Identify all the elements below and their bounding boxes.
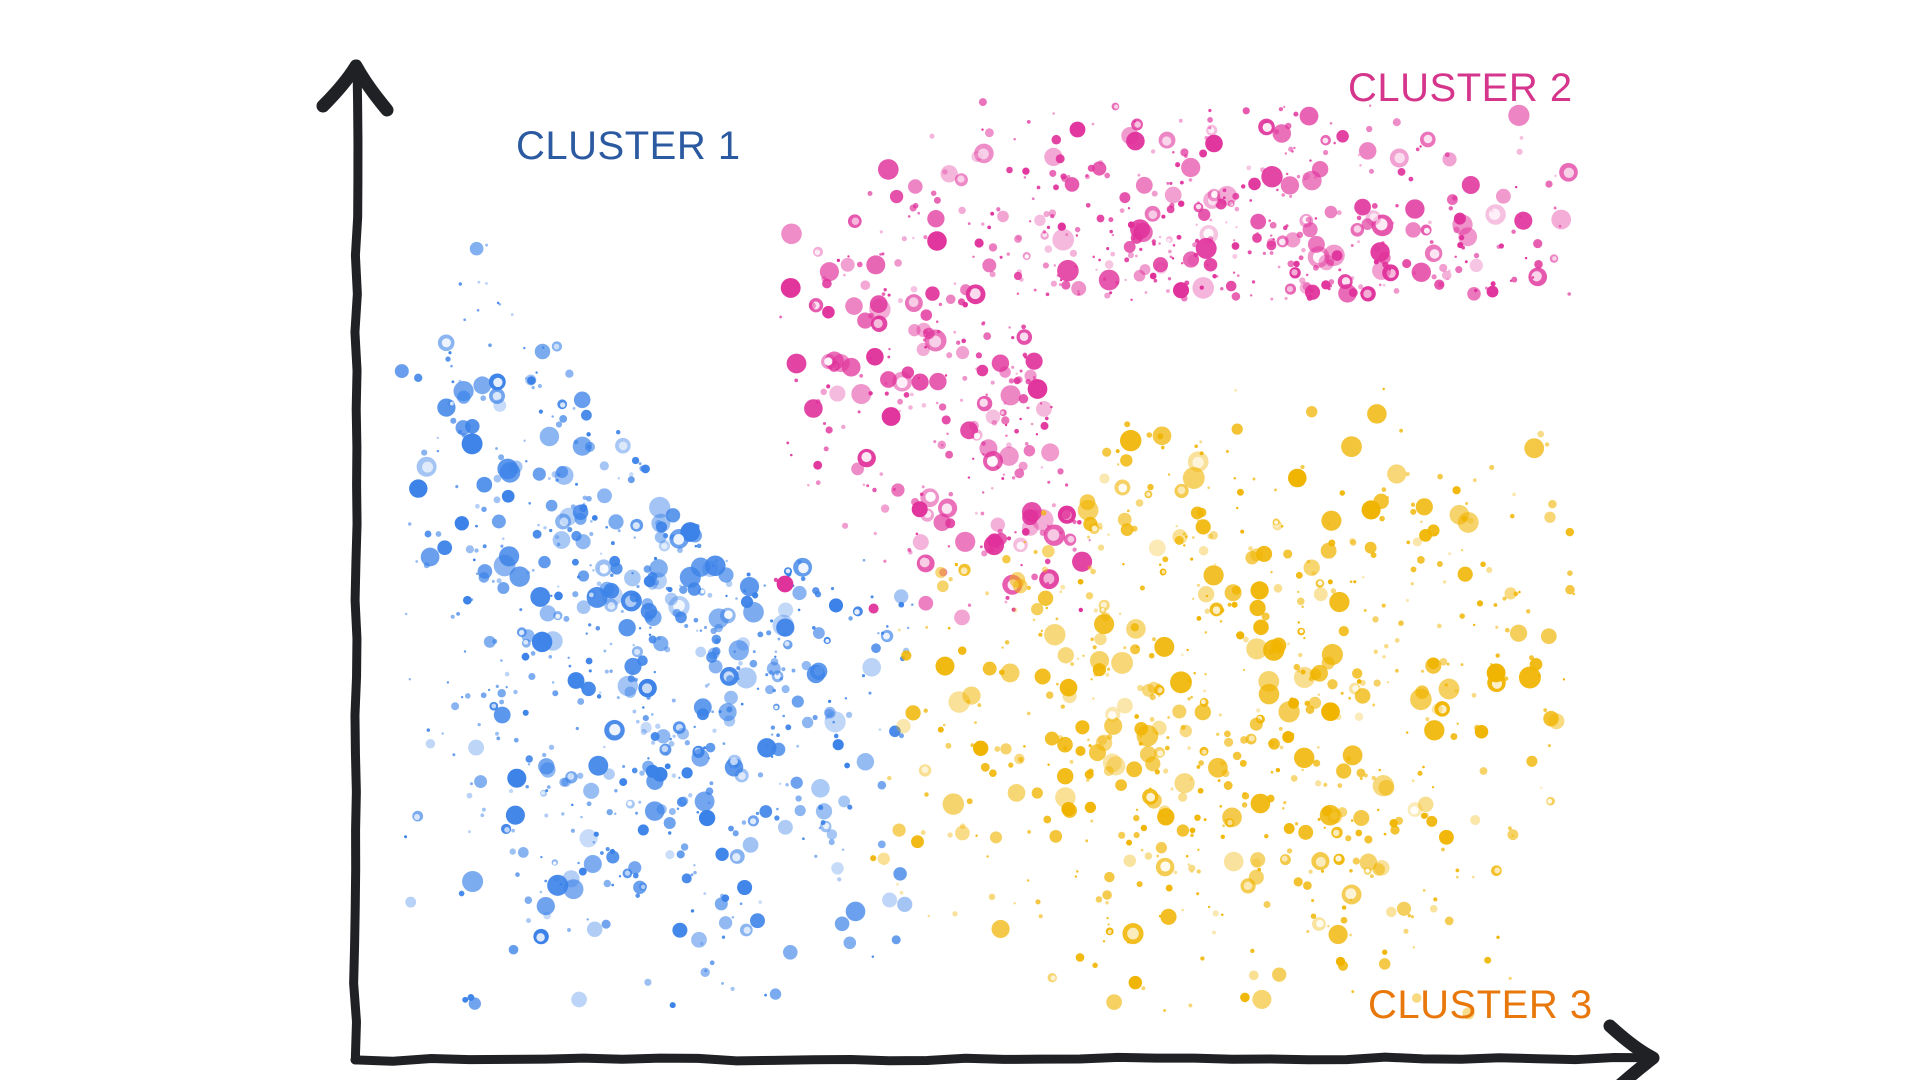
scatter-point	[526, 918, 531, 923]
scatter-point-speck	[470, 782, 473, 785]
scatter-point-highlight	[619, 442, 628, 451]
scatter-point-speck	[1043, 211, 1049, 217]
scatter-point	[1136, 177, 1153, 194]
scatter-point	[621, 610, 624, 613]
scatter-point	[905, 705, 920, 720]
scatter-point	[1242, 792, 1249, 799]
scatter-point	[1088, 539, 1090, 541]
scatter-point	[776, 672, 779, 675]
scatter-point	[614, 813, 617, 816]
scatter-point	[1352, 668, 1362, 678]
scatter-point-speck	[921, 830, 926, 835]
scatter-point	[878, 841, 886, 849]
scatter-point-highlight	[491, 704, 496, 709]
scatter-point-speck	[756, 812, 759, 815]
scatter-point	[456, 612, 460, 616]
scatter-point-highlight	[774, 706, 778, 710]
scatter-point	[708, 802, 711, 805]
scatter-point	[1370, 874, 1374, 878]
scatter-point	[1317, 746, 1320, 749]
scatter-point	[1154, 637, 1174, 657]
scatter-point-speck	[1529, 655, 1534, 660]
scatter-point	[1039, 914, 1043, 918]
scatter-point-highlight	[732, 853, 740, 861]
scatter-point-highlight	[1017, 542, 1025, 550]
scatter-point	[992, 920, 1010, 938]
scatter-point	[1306, 406, 1317, 417]
scatter-point	[1223, 188, 1227, 192]
scatter-point	[1281, 176, 1299, 194]
scatter-point	[605, 526, 608, 529]
scatter-point	[629, 472, 634, 477]
scatter-point	[912, 501, 928, 517]
scatter-point-speck	[492, 580, 495, 583]
scatter-point	[1198, 209, 1210, 221]
scatter-point	[1226, 450, 1229, 453]
scatter-point	[474, 548, 478, 552]
scatter-point	[1406, 540, 1410, 544]
scatter-point	[928, 915, 930, 917]
scatter-point	[1186, 649, 1188, 651]
scatter-point	[1526, 756, 1537, 767]
scatter-point	[547, 785, 551, 789]
scatter-point	[492, 515, 506, 529]
scatter-point	[1511, 229, 1515, 233]
scatter-point	[1168, 277, 1171, 280]
scatter-point-speck	[1449, 206, 1453, 210]
scatter-point	[1052, 112, 1054, 114]
scatter-point	[695, 791, 715, 811]
scatter-point-highlight	[627, 801, 632, 806]
scatter-point	[700, 630, 702, 632]
scatter-point	[571, 829, 575, 833]
scatter-point	[1170, 671, 1192, 693]
scatter-point	[1394, 288, 1400, 294]
scatter-point	[556, 421, 562, 427]
scatter-point	[997, 466, 1000, 469]
scatter-point	[829, 385, 845, 401]
scatter-point	[858, 410, 861, 413]
scatter-point-speck	[1313, 265, 1319, 271]
scatter-point	[1250, 852, 1265, 867]
scatter-point	[1105, 673, 1109, 677]
scatter-point	[1172, 151, 1175, 154]
scatter-point	[509, 945, 519, 955]
scatter-point-highlight	[1178, 486, 1186, 494]
scatter-point	[945, 743, 951, 749]
scatter-point	[451, 615, 455, 619]
scatter-point	[655, 724, 660, 729]
scatter-point	[580, 816, 582, 818]
scatter-point	[1149, 540, 1166, 557]
scatter-point	[673, 609, 682, 618]
scatter-point	[1359, 164, 1361, 166]
scatter-point	[1120, 454, 1132, 466]
scatter-point	[1187, 697, 1190, 700]
scatter-point	[1096, 896, 1103, 903]
scatter-point-highlight	[599, 564, 608, 573]
scatter-point	[1117, 698, 1133, 714]
scatter-point	[1031, 574, 1038, 581]
scatter-point	[975, 367, 978, 370]
scatter-point	[1287, 642, 1290, 645]
scatter-point	[925, 286, 939, 300]
scatter-point	[1166, 736, 1169, 739]
scatter-point	[589, 532, 593, 536]
scatter-point	[1533, 239, 1542, 248]
scatter-point	[1178, 201, 1184, 207]
scatter-point-speck	[1311, 913, 1316, 918]
scatter-point	[1548, 500, 1557, 509]
scatter-point	[1177, 824, 1189, 836]
scatter-point	[537, 524, 540, 527]
scatter-point	[1078, 579, 1084, 585]
scatter-point	[1134, 714, 1139, 719]
scatter-point-highlight	[662, 746, 669, 753]
scatter-point-highlight	[942, 503, 953, 514]
scatter-point	[1090, 569, 1096, 575]
scatter-point	[544, 814, 548, 818]
scatter-point	[1011, 336, 1014, 339]
scatter-point	[1158, 242, 1161, 245]
scatter-point	[1015, 373, 1017, 375]
scatter-point	[528, 673, 535, 680]
scatter-point	[1250, 600, 1266, 616]
scatter-point-speck	[1505, 628, 1510, 633]
scatter-point	[559, 415, 567, 423]
scatter-point	[989, 894, 995, 900]
scatter-point	[574, 440, 578, 444]
scatter-point	[1222, 824, 1225, 827]
scatter-point-speck	[1104, 173, 1110, 179]
scatter-point-speck	[480, 395, 486, 401]
scatter-point	[1165, 746, 1170, 751]
scatter-point	[1174, 871, 1178, 875]
scatter-point-highlight	[1318, 581, 1323, 586]
scatter-point	[1251, 794, 1271, 814]
scatter-point	[657, 636, 661, 640]
scatter-point	[701, 968, 710, 977]
scatter-point	[888, 294, 891, 297]
scatter-point	[1124, 257, 1129, 262]
scatter-point	[1198, 586, 1214, 602]
scatter-point	[1465, 260, 1468, 263]
scatter-point-speck	[497, 578, 502, 583]
scatter-point	[1206, 264, 1208, 266]
scatter-point	[1437, 474, 1443, 480]
scatter-point	[786, 442, 789, 445]
scatter-point	[509, 789, 513, 793]
scatter-point	[571, 992, 587, 1008]
scatter-point	[408, 522, 411, 525]
scatter-point-speck	[685, 740, 690, 745]
scatter-point	[412, 482, 415, 485]
scatter-point-highlight	[1282, 856, 1288, 862]
scatter-point	[1188, 865, 1195, 872]
scatter-point	[575, 483, 578, 486]
scatter-point	[844, 763, 850, 769]
scatter-point	[488, 343, 492, 347]
scatter-point	[567, 657, 569, 659]
scatter-point-highlight	[1134, 121, 1141, 128]
scatter-point-speck	[567, 527, 572, 532]
scatter-point	[1197, 201, 1200, 204]
scatter-point	[1329, 592, 1349, 612]
scatter-point-highlight	[1489, 209, 1500, 220]
scatter-point	[557, 585, 560, 588]
scatter-point	[1243, 637, 1249, 643]
scatter-point	[1000, 743, 1011, 754]
scatter-point	[437, 540, 452, 555]
scatter-point	[495, 732, 499, 736]
scatter-point	[1240, 760, 1247, 767]
scatter-point	[409, 479, 427, 497]
scatter-point	[1178, 793, 1187, 802]
scatter-point	[639, 770, 644, 775]
scatter-point-highlight	[1354, 225, 1361, 232]
scatter-point	[479, 572, 490, 583]
scatter-point	[1462, 516, 1467, 521]
scatter-point	[982, 453, 984, 455]
scatter-point	[1002, 555, 1011, 564]
scatter-point-speck	[1502, 597, 1506, 601]
scatter-point	[918, 596, 933, 611]
scatter-point	[1146, 432, 1152, 438]
scatter-point	[1153, 257, 1168, 272]
scatter-point	[985, 393, 988, 396]
scatter-point	[955, 532, 975, 552]
scatter-point	[592, 569, 594, 571]
scatter-point	[1196, 892, 1199, 895]
scatter-point	[552, 690, 558, 696]
scatter-point	[528, 502, 531, 505]
scatter-point	[1019, 418, 1021, 420]
scatter-point	[638, 801, 641, 804]
y-axis-line	[354, 64, 358, 1060]
scatter-point	[792, 586, 806, 600]
scatter-point	[866, 484, 869, 487]
scatter-point	[1104, 872, 1115, 883]
scatter-point	[1243, 669, 1245, 671]
scatter-point	[983, 332, 991, 340]
scatter-point-highlight	[560, 402, 565, 407]
scatter-point	[1082, 655, 1084, 657]
scatter-point	[962, 686, 980, 704]
scatter-point	[497, 582, 509, 594]
scatter-point-speck	[485, 244, 488, 247]
scatter-point	[1198, 788, 1204, 794]
scatter-point	[1220, 761, 1225, 766]
scatter-point-highlight	[1068, 536, 1075, 543]
scatter-point	[1306, 274, 1309, 277]
scatter-point	[1318, 693, 1321, 696]
scatter-point	[1209, 531, 1218, 540]
scatter-point-highlight	[1323, 138, 1329, 144]
scatter-point	[633, 536, 635, 538]
scatter-point	[493, 399, 506, 412]
scatter-point	[1256, 546, 1272, 562]
scatter-point-speck	[1056, 683, 1059, 686]
scatter-point	[565, 370, 573, 378]
scatter-point	[1014, 429, 1019, 434]
scatter-point	[1485, 287, 1488, 290]
scatter-point	[525, 460, 527, 462]
scatter-point	[961, 339, 966, 344]
scatter-point	[1312, 571, 1316, 575]
scatter-point	[775, 650, 777, 652]
scatter-point	[1008, 326, 1010, 328]
scatter-point-highlight	[1202, 750, 1207, 755]
scatter-point	[1456, 869, 1460, 873]
scatter-point	[507, 769, 526, 788]
scatter-point	[1264, 834, 1268, 838]
scatter-point	[1422, 766, 1425, 769]
scatter-point	[709, 781, 713, 785]
scatter-point	[935, 567, 946, 578]
scatter-point	[703, 892, 706, 895]
scatter-point	[1188, 255, 1199, 266]
scatter-point	[1382, 487, 1387, 492]
scatter-point	[1474, 253, 1479, 258]
scatter-point	[898, 298, 903, 303]
scatter-point	[1224, 731, 1231, 738]
scatter-point-speck	[1077, 520, 1082, 525]
scatter-point	[1474, 289, 1477, 292]
scatter-point-speck	[837, 877, 841, 881]
scatter-point-highlight	[414, 814, 420, 820]
scatter-point-speck	[1008, 762, 1013, 767]
scatter-point	[942, 415, 951, 424]
scatter-point	[1287, 260, 1294, 267]
scatter-point	[1256, 708, 1260, 712]
scatter-point	[1349, 869, 1353, 873]
scatter-point-highlight	[1316, 920, 1324, 928]
scatter-point-speck	[1241, 184, 1245, 188]
scatter-point	[956, 346, 969, 359]
scatter-point	[868, 391, 872, 395]
scatter-point	[912, 237, 915, 240]
scatter-point	[583, 496, 587, 500]
scatter-point	[569, 665, 572, 668]
scatter-point	[1203, 689, 1206, 692]
scatter-point	[1145, 852, 1152, 859]
scatter-point	[1020, 369, 1023, 372]
scatter-point-speck	[1025, 379, 1030, 384]
scatter-point	[1129, 976, 1142, 989]
scatter-point	[792, 669, 796, 673]
scatter-point	[519, 608, 522, 611]
scatter-point	[910, 204, 917, 211]
scatter-point	[991, 381, 995, 385]
scatter-point	[822, 306, 835, 319]
scatter-point-speck	[1009, 378, 1014, 383]
scatter-point	[1136, 646, 1139, 649]
scatter-point	[557, 543, 561, 547]
scatter-point	[706, 743, 716, 753]
scatter-point	[497, 689, 506, 698]
scatter-point-speck	[813, 715, 818, 720]
scatter-point-highlight	[784, 641, 789, 646]
scatter-point	[860, 280, 870, 290]
scatter-point	[750, 660, 758, 668]
scatter-point	[496, 685, 499, 688]
scatter-point	[1072, 547, 1076, 551]
scatter-point	[898, 628, 901, 631]
scatter-point	[1086, 592, 1093, 599]
scatter-point-speck	[753, 650, 756, 653]
scatter-point-speck	[448, 351, 451, 354]
scatter-point	[1013, 902, 1015, 904]
scatter-point-highlight	[1249, 735, 1255, 741]
scatter-point	[1197, 508, 1206, 517]
scatter-point	[896, 883, 899, 886]
scatter-point-highlight	[974, 433, 980, 439]
scatter-point-speck	[1205, 609, 1210, 614]
scatter-point-speck	[1410, 509, 1416, 515]
scatter-point-highlight	[541, 791, 545, 795]
scatter-point	[1472, 693, 1477, 698]
scatter-point	[528, 763, 530, 765]
scatter-point	[523, 347, 525, 349]
scatter-point	[1383, 284, 1386, 287]
scatter-point	[1092, 256, 1094, 258]
scatter-point-highlight	[1564, 168, 1574, 178]
scatter-point-highlight	[1424, 228, 1430, 234]
scatter-point-speck	[736, 666, 740, 670]
scatter-point	[1219, 713, 1222, 716]
scatter-point	[1232, 292, 1241, 301]
scatter-point	[1274, 488, 1277, 491]
scatter-point-speck	[1256, 232, 1258, 234]
scatter-point	[1323, 783, 1327, 787]
scatter-point	[600, 582, 615, 597]
scatter-point	[1299, 277, 1305, 283]
scatter-point-speck	[1293, 112, 1298, 117]
scatter-point	[1075, 746, 1085, 756]
scatter-point	[1014, 531, 1017, 534]
scatter-point	[1003, 402, 1007, 406]
scatter-point	[1024, 176, 1027, 179]
scatter-point-speck	[1162, 556, 1168, 562]
scatter-point-speck	[1021, 324, 1026, 329]
scatter-point	[494, 496, 501, 503]
scatter-point-highlight	[824, 357, 832, 365]
scatter-point	[968, 222, 971, 225]
scatter-point	[874, 532, 877, 535]
scatter-point-highlight	[979, 399, 987, 407]
scatter-point	[452, 753, 455, 756]
scatter-point	[1419, 145, 1421, 147]
scatter-point	[494, 475, 502, 483]
scatter-point	[1374, 650, 1379, 655]
scatter-point	[1105, 901, 1109, 905]
scatter-point	[1133, 815, 1139, 821]
scatter-point	[1548, 744, 1551, 747]
scatter-point	[1130, 299, 1132, 301]
scatter-point	[1306, 217, 1312, 223]
scatter-point	[581, 410, 592, 421]
scatter-point	[999, 669, 1005, 675]
scatter-point	[1284, 823, 1295, 834]
scatter-point	[1186, 855, 1189, 858]
scatter-point	[1514, 212, 1532, 230]
scatter-point-highlight	[861, 452, 871, 462]
scatter-point	[639, 465, 645, 471]
scatter-point	[571, 531, 581, 541]
scatter-point	[670, 1002, 676, 1008]
scatter-point	[1057, 768, 1073, 784]
scatter-point	[1406, 731, 1408, 733]
